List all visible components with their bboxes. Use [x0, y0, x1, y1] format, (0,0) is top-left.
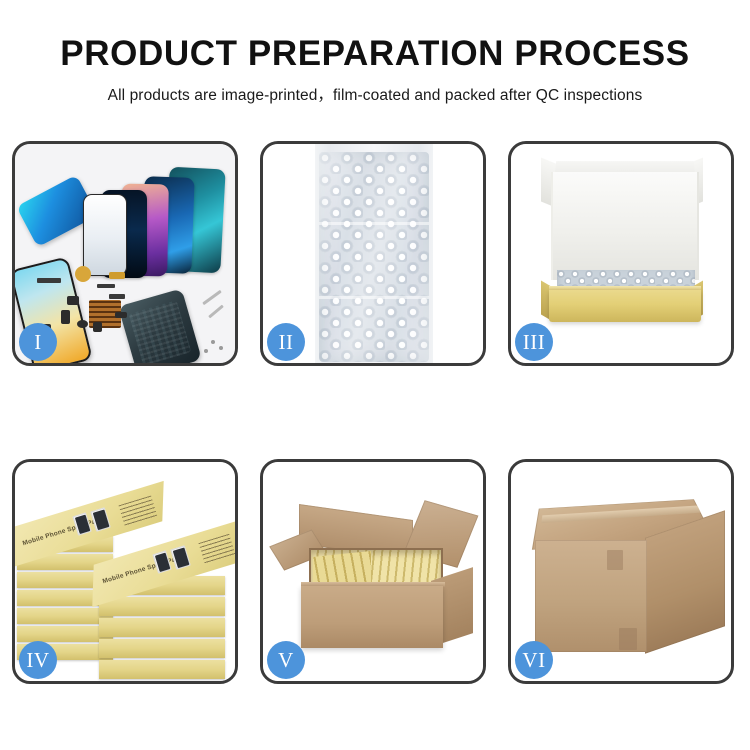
bubble-wrap-seam: [319, 296, 429, 299]
step-badge-1: I: [19, 323, 57, 361]
process-step-grid: I II III: [12, 141, 738, 684]
earpiece-mesh-part-icon: [115, 312, 127, 318]
step-image-1: I: [15, 144, 235, 363]
retail-box: [99, 660, 225, 679]
mailer-inner-wall: [551, 172, 699, 280]
page-header: PRODUCT PREPARATION PROCESS All products…: [0, 0, 750, 105]
page-title: PRODUCT PREPARATION PROCESS: [0, 36, 750, 73]
mailer-front-panel: [549, 290, 701, 322]
step-badge-2: II: [267, 323, 305, 361]
step-image-6: VI: [511, 462, 731, 681]
page-subtitle: All products are image-printed，film-coat…: [0, 83, 750, 105]
antenna-flex-part-icon: [97, 284, 115, 288]
screw-icon: [204, 349, 208, 353]
flex-cable-part-icon: [37, 278, 61, 283]
speaker-part-icon: [75, 266, 91, 282]
step-image-5: V: [263, 462, 483, 681]
vibrator-part-icon: [77, 320, 88, 328]
carton-bottom-notch: [619, 628, 637, 650]
step-image-4: Mobile Phone Spare Parts Mobile Phone Sp…: [15, 462, 235, 681]
connector-part-icon: [61, 310, 70, 324]
step-badge-6: VI: [515, 641, 553, 679]
home-button-flex-part-icon: [109, 294, 125, 299]
step-image-2: II: [263, 144, 483, 363]
retail-box: [99, 639, 225, 658]
step-panel-3[interactable]: III: [508, 141, 734, 366]
camera-module-part-icon: [67, 296, 79, 305]
bubble-wrap-gloss: [319, 152, 429, 362]
step-panel-2[interactable]: II: [260, 141, 486, 366]
carton-handle-notch: [607, 550, 623, 570]
step-badge-4: IV: [19, 641, 57, 679]
carton-front-panel: [301, 586, 443, 648]
phone-white-icon: [83, 194, 127, 276]
step-panel-5[interactable]: V: [260, 459, 486, 684]
screw-icon: [219, 346, 223, 350]
step-panel-6[interactable]: VI: [508, 459, 734, 684]
button-flex-part-icon: [109, 272, 125, 279]
screw-icon: [211, 340, 215, 344]
step-panel-4[interactable]: Mobile Phone Spare Parts Mobile Phone Sp…: [12, 459, 238, 684]
retail-box: [99, 597, 225, 616]
step-badge-3: III: [515, 323, 553, 361]
step-image-3: III: [511, 144, 731, 363]
battery-connector-part-icon: [93, 322, 102, 332]
step-badge-5: V: [267, 641, 305, 679]
retail-box: [99, 618, 225, 637]
step-panel-1[interactable]: I: [12, 141, 238, 366]
bubble-wrap-seam: [319, 222, 429, 225]
